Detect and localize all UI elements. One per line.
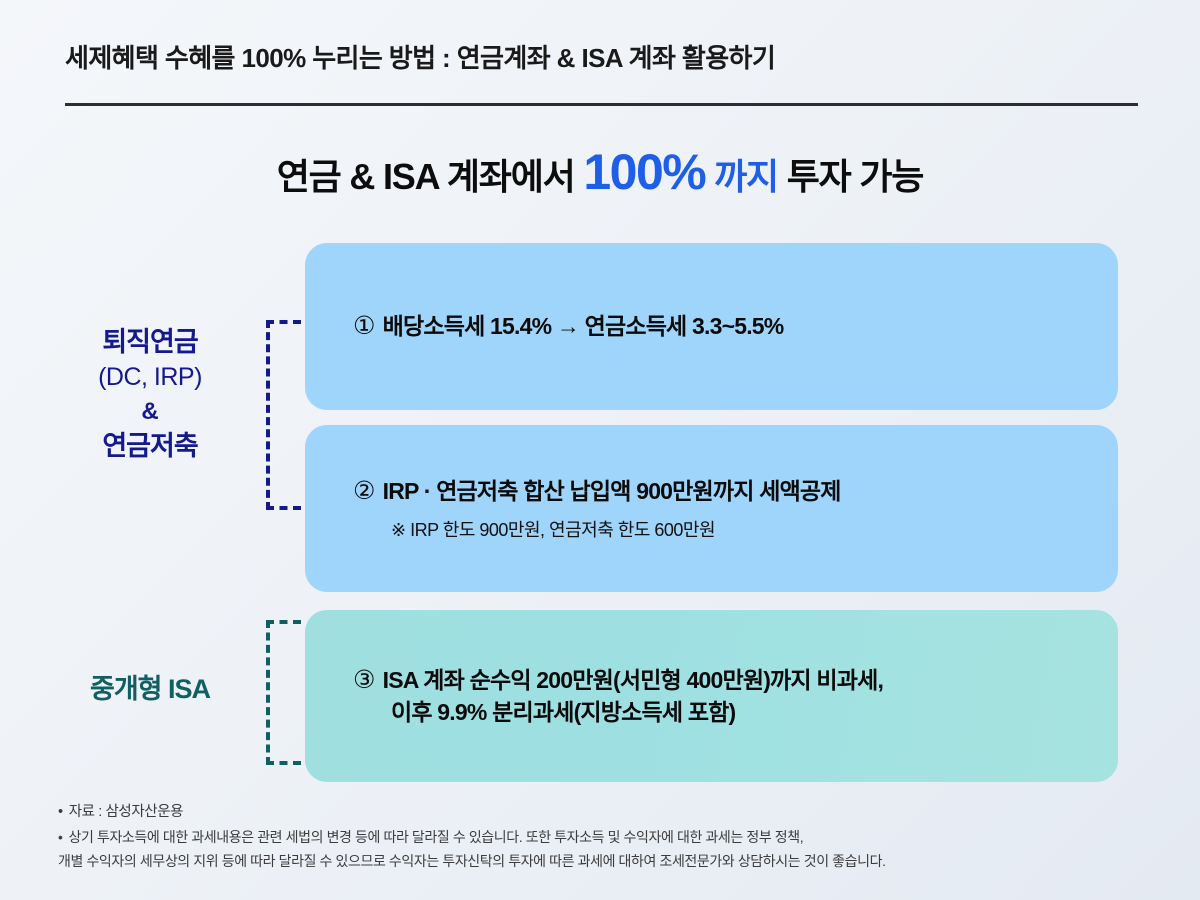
headline-highlight-number: 100% xyxy=(583,144,705,200)
footer-note-line-2: 개별 수익자의 세무상의 지위 등에 따라 달라질 수 있으므로 수익자는 투자… xyxy=(58,849,1148,873)
benefit-card-3-line-2: 이후 9.9% 분리과세(지방소득세 포함) xyxy=(353,697,1088,728)
benefit-card-3-number: ③ xyxy=(353,664,375,698)
benefit-card-2-line: ②IRP · 연금저축 합산 납입액 900만원까지 세액공제 xyxy=(353,475,1088,509)
benefit-card-2-text: IRP · 연금저축 합산 납입액 900만원까지 세액공제 xyxy=(383,478,841,504)
benefit-card-2-body: ②IRP · 연금저축 합산 납입액 900만원까지 세액공제 ※ IRP 한도… xyxy=(305,475,1118,543)
benefit-card-1: ①배당소득세 15.4% → 연금소득세 3.3~5.5% xyxy=(305,243,1118,410)
page-title: 세제혜택 수혜를 100% 누리는 방법 : 연금계좌 & ISA 계좌 활용하… xyxy=(65,38,1140,75)
footer-source-text: 자료 : 삼성자산운용 xyxy=(69,804,183,820)
benefit-card-2-number: ② xyxy=(353,475,375,509)
headline-suffix: 투자 가능 xyxy=(778,156,923,197)
bracket-isa xyxy=(266,620,301,765)
header: 세제혜택 수혜를 100% 누리는 방법 : 연금계좌 & ISA 계좌 활용하… xyxy=(65,38,1140,75)
benefit-card-3: ③ISA 계좌 순수익 200만원(서민형 400만원)까지 비과세, 이후 9… xyxy=(305,610,1118,782)
footer-note-text-1: 상기 투자소득에 대한 과세내용은 관련 세법의 변경 등에 따라 달라질 수 … xyxy=(69,829,804,845)
group-label-pension-subtitle: (DC, IRP) xyxy=(45,361,255,394)
group-label-isa-title: 중개형 ISA xyxy=(90,674,210,704)
benefit-card-3-line-1: ③ISA 계좌 순수익 200만원(서민형 400만원)까지 비과세, xyxy=(353,664,1088,698)
group-label-isa: 중개형 ISA xyxy=(45,672,255,708)
header-divider xyxy=(65,103,1138,106)
benefit-card-3-body: ③ISA 계좌 순수익 200만원(서민형 400만원)까지 비과세, 이후 9… xyxy=(305,664,1118,729)
headline-highlight-suffix: 까지 xyxy=(705,156,778,197)
benefit-card-1-line: ①배당소득세 15.4% → 연금소득세 3.3~5.5% xyxy=(353,310,1088,344)
group-label-pension-ampersand: & xyxy=(45,396,255,428)
bracket-pension xyxy=(266,320,301,510)
headline-prefix: 연금 & ISA 계좌에서 xyxy=(277,156,584,197)
group-label-pension: 퇴직연금 (DC, IRP) & 연금저축 xyxy=(45,325,255,465)
benefit-card-2: ②IRP · 연금저축 합산 납입액 900만원까지 세액공제 ※ IRP 한도… xyxy=(305,425,1118,592)
benefit-card-1-text: 배당소득세 15.4% → 연금소득세 3.3~5.5% xyxy=(383,313,784,339)
benefit-card-2-note: ※ IRP 한도 900만원, 연금저축 한도 600만원 xyxy=(353,516,1088,542)
benefit-card-1-number: ① xyxy=(353,310,375,344)
footer-disclaimer: •자료 : 삼성자산운용 •상기 투자소득에 대한 과세내용은 관련 세법의 변… xyxy=(58,800,1148,873)
group-label-pension-title2: 연금저축 xyxy=(45,429,255,465)
group-label-pension-title: 퇴직연금 xyxy=(45,325,255,361)
footer-bullet-2: • xyxy=(58,829,63,845)
footer-note-line-1: •상기 투자소득에 대한 과세내용은 관련 세법의 변경 등에 따라 달라질 수… xyxy=(58,825,1148,849)
benefit-card-3-text: ISA 계좌 순수익 200만원(서민형 400만원)까지 비과세, xyxy=(383,667,883,693)
benefit-card-1-body: ①배당소득세 15.4% → 연금소득세 3.3~5.5% xyxy=(305,310,1118,344)
footer-source-line: •자료 : 삼성자산운용 xyxy=(58,800,1148,825)
footer-bullet-1: • xyxy=(58,804,63,820)
headline: 연금 & ISA 계좌에서 100% 까지 투자 가능 xyxy=(0,143,1200,201)
